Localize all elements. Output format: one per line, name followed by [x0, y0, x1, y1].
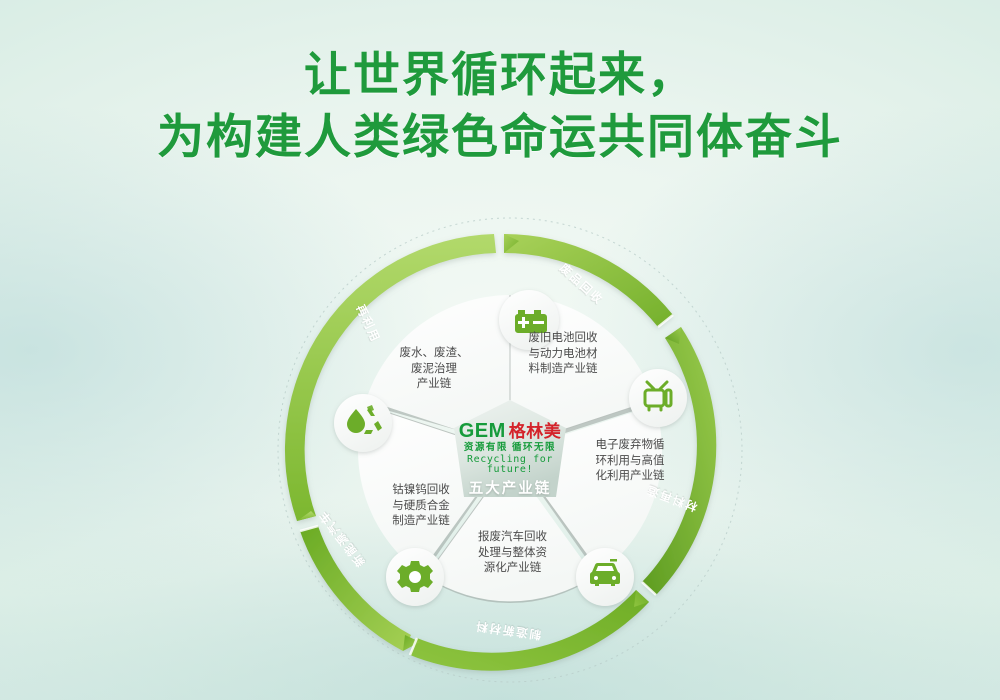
page-title: 让世界循环起来， 为构建人类绿色命运共同体奋斗	[0, 44, 1000, 168]
logo-slogan-cn: 资源有限 循环无限	[445, 443, 575, 453]
chain-label-battery: 废旧电池回收 与动力电池材 料制造产业链	[507, 331, 619, 378]
chain-label-e-waste: 电子废弃物循 环利用与高值 化利用产业链	[580, 438, 680, 485]
icon-bubble-television[interactable]	[629, 369, 687, 427]
logo-brand-cn: 格林美	[509, 422, 562, 441]
hub-label: 五大产业链	[445, 477, 575, 498]
circular-industry-diagram: 废旧电池回收 与动力电池材 料制造产业链 电子废弃物循 环利用与高值 化利用产业…	[275, 215, 745, 685]
logo-brand-en: GEM	[459, 420, 506, 442]
chain-label-waste-water: 废水、废渣、 废泥治理 产业链	[379, 346, 489, 393]
chain-label-vehicle: 报废汽车回收 处理与整体资 源化产业链	[460, 530, 565, 577]
ring-arrowhead-3	[634, 590, 649, 607]
title-line-2: 为构建人类绿色命运共同体奋斗	[0, 106, 1000, 168]
gem-logo: GEM格林美 资源有限 循环无限 Recycling for future!	[445, 421, 575, 475]
title-line-1: 让世界循环起来，	[0, 44, 1000, 106]
gear-icon	[397, 561, 433, 592]
logo-slogan-en: Recycling for future!	[445, 455, 575, 475]
poster-canvas: 让世界循环起来， 为构建人类绿色命运共同体奋斗	[0, 0, 1000, 700]
logo-brand: GEM格林美	[445, 421, 575, 441]
